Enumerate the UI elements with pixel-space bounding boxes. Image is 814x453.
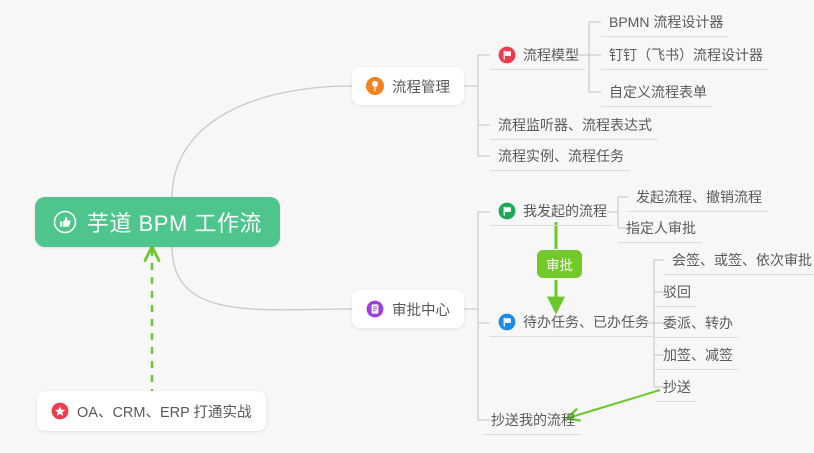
star-icon [51, 402, 69, 420]
bottom-note-node[interactable]: OA、CRM、ERP 打通实战 [37, 391, 266, 431]
node-label-process-listener-expression: 流程监听器、流程表达式 [498, 115, 652, 135]
root-label: 芋道 BPM 工作流 [87, 206, 262, 238]
node-label-todo-done-tasks: 待办任务、已办任务 [523, 312, 649, 332]
arrow-cc-to-cc-my-process [568, 390, 660, 418]
node-label-reject: 驳回 [663, 282, 691, 302]
mindmap-canvas: 芋道 BPM 工作流 流程管理 流程模型 BPMN 流程设计器 钉 [0, 0, 814, 453]
node-bpmn-designer[interactable]: BPMN 流程设计器 [601, 7, 729, 37]
branch-node-approval-center[interactable]: 审批中心 [352, 290, 464, 328]
node-label-add-remove-sign: 加签、减签 [663, 345, 733, 365]
bottom-note-label: OA、CRM、ERP 打通实战 [77, 401, 252, 422]
root-node[interactable]: 芋道 BPM 工作流 [35, 197, 280, 247]
flag-icon [498, 313, 516, 331]
node-countersign-orsign-sequential[interactable]: 会签、或签、依次审批 [664, 245, 814, 275]
branch-label-process-management: 流程管理 [392, 76, 450, 97]
node-custom-process-form[interactable]: 自定义流程表单 [601, 77, 713, 107]
node-reject[interactable]: 驳回 [655, 277, 697, 307]
branch-node-process-management[interactable]: 流程管理 [352, 67, 464, 105]
document-icon [366, 300, 384, 318]
node-todo-done-tasks[interactable]: 待办任务、已办任务 [490, 307, 655, 337]
node-process-model[interactable]: 流程模型 [490, 40, 585, 70]
node-process-instance-task[interactable]: 流程实例、流程任务 [490, 141, 630, 171]
thumbs-up-icon [53, 210, 77, 234]
approval-flow-tag-label: 审批 [546, 254, 573, 274]
node-start-cancel-process[interactable]: 发起流程、撤销流程 [628, 182, 768, 212]
node-label-delegate-transfer: 委派、转办 [663, 313, 733, 333]
flag-icon [498, 46, 516, 64]
node-process-listener-expression[interactable]: 流程监听器、流程表达式 [490, 110, 658, 140]
node-label-my-initiated-process: 我发起的流程 [523, 201, 607, 221]
node-dingtalk-feishu-designer[interactable]: 钉钉（飞书）流程设计器 [601, 40, 769, 70]
node-cc[interactable]: 抄送 [655, 372, 697, 402]
node-delegate-transfer[interactable]: 委派、转办 [655, 308, 739, 338]
lightbulb-pin-icon [366, 77, 384, 95]
node-label-cc: 抄送 [663, 377, 691, 397]
node-label-custom-process-form: 自定义流程表单 [609, 82, 707, 102]
node-label-cc-to-me-process: 抄送我的流程 [491, 410, 575, 430]
node-label-dingtalk-feishu-designer: 钉钉（飞书）流程设计器 [609, 45, 763, 65]
node-assignee-approval[interactable]: 指定人审批 [618, 213, 702, 243]
node-label-process-instance-task: 流程实例、流程任务 [498, 146, 624, 166]
node-add-remove-sign[interactable]: 加签、减签 [655, 340, 739, 370]
approval-flow-tag[interactable]: 审批 [537, 250, 582, 278]
node-my-initiated-process[interactable]: 我发起的流程 [490, 196, 613, 226]
edge-root-to-process-management [172, 86, 352, 198]
branch-label-approval-center: 审批中心 [392, 299, 450, 320]
node-cc-to-me-process[interactable]: 抄送我的流程 [483, 405, 581, 435]
node-label-start-cancel-process: 发起流程、撤销流程 [636, 187, 762, 207]
node-label-bpmn-designer: BPMN 流程设计器 [609, 12, 723, 32]
node-label-countersign-orsign-sequential: 会签、或签、依次审批 [672, 250, 812, 270]
flag-icon [498, 202, 516, 220]
edge-root-to-approval-center [172, 246, 352, 310]
node-label-assignee-approval: 指定人审批 [626, 218, 696, 238]
node-label-process-model: 流程模型 [523, 45, 579, 65]
